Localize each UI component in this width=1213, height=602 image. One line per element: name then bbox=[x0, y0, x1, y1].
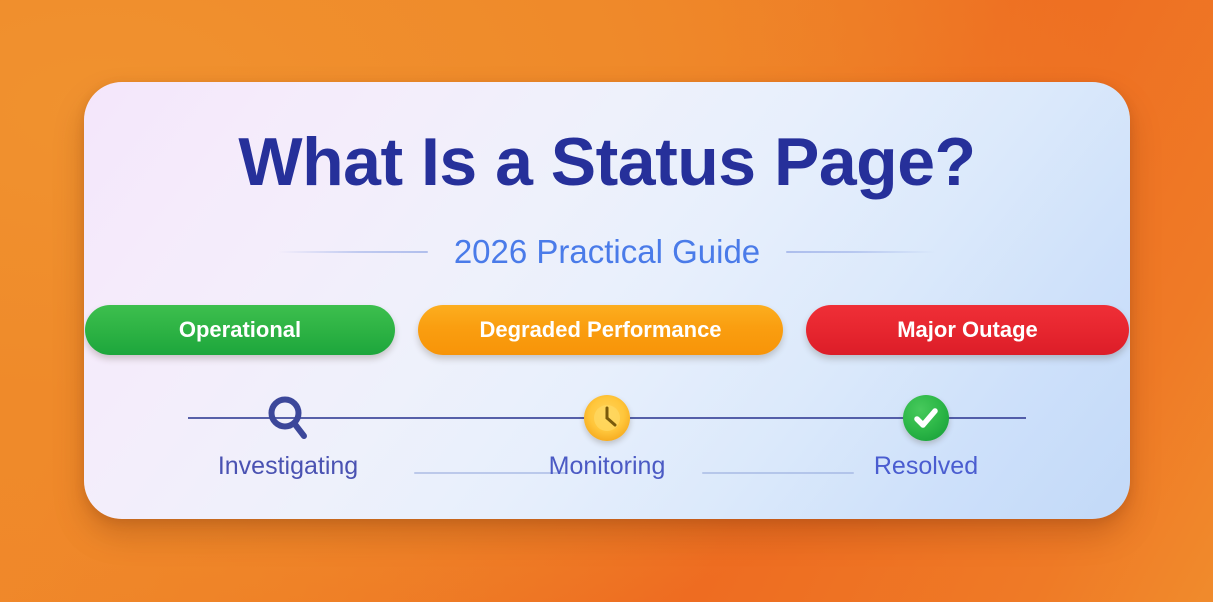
timeline-step-3-icon-wrap bbox=[903, 390, 949, 446]
page-title: What Is a Status Page? bbox=[84, 128, 1130, 196]
timeline-step-monitoring[interactable]: Monitoring bbox=[507, 390, 707, 481]
timeline-step-2-label: Monitoring bbox=[549, 452, 666, 481]
status-pill-group: Operational Degraded Performance Major O… bbox=[84, 305, 1130, 355]
timeline-step-2-icon-wrap bbox=[584, 390, 630, 446]
card-content: What Is a Status Page? 2026 Practical Gu… bbox=[84, 82, 1130, 519]
status-page-card: What Is a Status Page? 2026 Practical Gu… bbox=[84, 82, 1130, 519]
status-badge-degraded-label: Degraded Performance bbox=[479, 317, 721, 343]
poster-background: What Is a Status Page? 2026 Practical Gu… bbox=[0, 0, 1213, 602]
timeline-step-3-label: Resolved bbox=[874, 452, 978, 481]
incident-timeline: Investigating Moni bbox=[188, 390, 1026, 490]
magnifier-icon bbox=[262, 390, 314, 446]
clock-icon bbox=[584, 395, 630, 441]
check-circle-icon bbox=[903, 395, 949, 441]
subtitle-rule-left bbox=[278, 251, 428, 253]
status-badge-major-outage-label: Major Outage bbox=[897, 317, 1038, 343]
status-badge-major-outage[interactable]: Major Outage bbox=[806, 305, 1129, 355]
subtitle-row: 2026 Practical Guide bbox=[84, 230, 1130, 274]
timeline-step-1-label: Investigating bbox=[218, 452, 358, 481]
timeline-step-investigating[interactable]: Investigating bbox=[188, 390, 388, 481]
status-badge-operational[interactable]: Operational bbox=[85, 305, 395, 355]
status-badge-operational-label: Operational bbox=[179, 317, 301, 343]
timeline-step-resolved[interactable]: Resolved bbox=[826, 390, 1026, 481]
timeline-steps: Investigating Moni bbox=[188, 390, 1026, 481]
subtitle-rule-right bbox=[786, 251, 936, 253]
status-badge-degraded[interactable]: Degraded Performance bbox=[418, 305, 783, 355]
page-subtitle: 2026 Practical Guide bbox=[454, 233, 760, 271]
timeline-step-1-icon-wrap bbox=[262, 390, 314, 446]
